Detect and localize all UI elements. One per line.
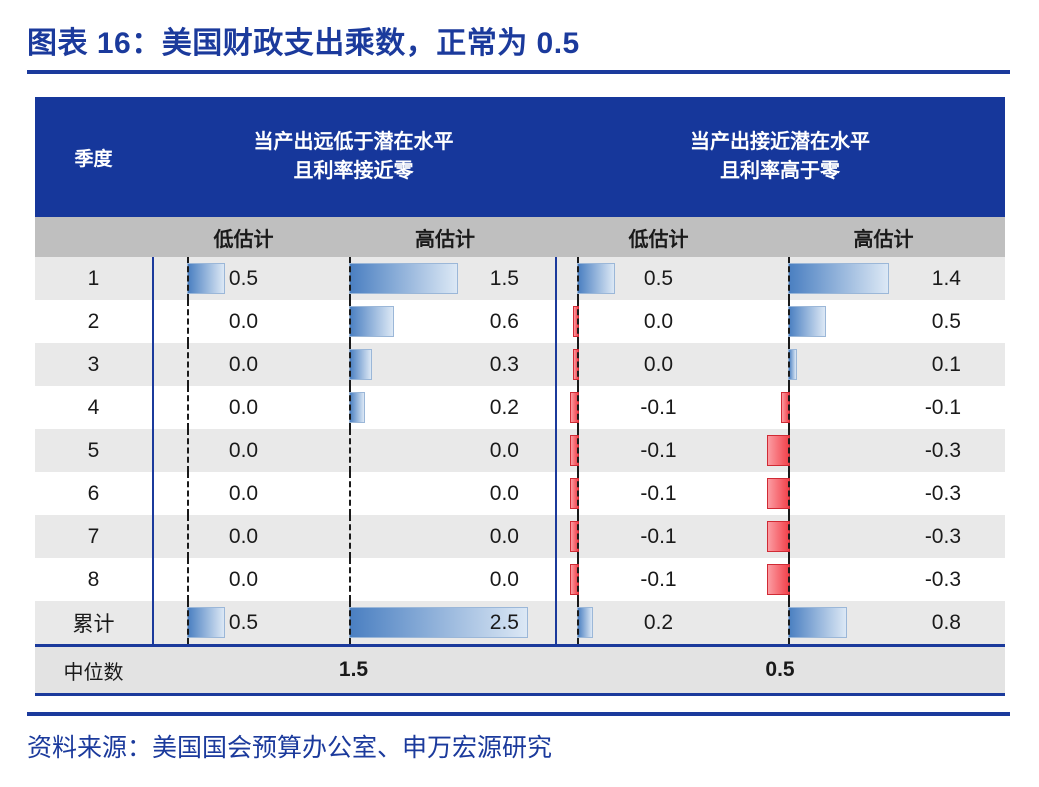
cell-value: -0.1 (555, 439, 762, 463)
cell-value: 0.0 (335, 525, 555, 549)
cell-value: 0.0 (335, 439, 555, 463)
table-row: 50.00.0-0.1-0.3 (35, 429, 1005, 472)
cell-value: -0.1 (762, 396, 1005, 420)
divider-sections (555, 257, 557, 644)
cell-value: 0.0 (152, 439, 335, 463)
figure-container: 图表 16：美国财政支出乘数，正常为 0.5 季度 当产出远低于潜在水平 且利率… (0, 0, 1039, 787)
row-quarter-label: 1 (35, 257, 152, 300)
cell-value: -0.1 (555, 568, 762, 592)
median-row: 中位数 1.5 0.5 (35, 644, 1005, 696)
cell-value: 0.0 (152, 310, 335, 334)
header-group-right-line1: 当产出接近潜在水平 (690, 128, 870, 157)
cell-value: -0.3 (762, 525, 1005, 549)
cell-low-left: 0.0 (152, 472, 335, 515)
table-header: 季度 当产出远低于潜在水平 且利率接近零 当产出接近潜在水平 且利率高于零 (35, 97, 1005, 217)
cell-value: 0.8 (762, 611, 1005, 635)
cell-value: 1.5 (335, 267, 555, 291)
cell-value: 0.6 (335, 310, 555, 334)
row-quarter-label: 3 (35, 343, 152, 386)
cell-value: 0.5 (152, 267, 335, 291)
cell-high-left: 0.0 (335, 429, 555, 472)
cell-value: 0.0 (152, 482, 335, 506)
cell-low-left: 0.0 (152, 429, 335, 472)
cell-low-left: 0.0 (152, 300, 335, 343)
row-quarter-label: 7 (35, 515, 152, 558)
header-group-left-line1: 当产出远低于潜在水平 (254, 128, 454, 157)
source-divider (27, 712, 1010, 716)
cell-high-right: 0.5 (762, 300, 1005, 343)
table-row: 80.00.0-0.1-0.3 (35, 558, 1005, 601)
cell-low-right: -0.1 (555, 386, 762, 429)
table-body: 10.51.50.51.420.00.60.00.530.00.30.00.14… (35, 257, 1005, 644)
table-row: 累计0.52.50.20.8 (35, 601, 1005, 644)
row-quarter-label: 2 (35, 300, 152, 343)
cell-low-left: 0.0 (152, 515, 335, 558)
cell-low-right: 0.0 (555, 343, 762, 386)
cell-high-left: 0.0 (335, 515, 555, 558)
cell-low-left: 0.5 (152, 601, 335, 644)
cell-low-left: 0.5 (152, 257, 335, 300)
cell-value: 0.0 (335, 568, 555, 592)
cell-high-left: 0.0 (335, 558, 555, 601)
cell-high-left: 0.3 (335, 343, 555, 386)
cell-high-left: 2.5 (335, 601, 555, 644)
cell-high-left: 1.5 (335, 257, 555, 300)
subheader-low-right: 低估计 (555, 217, 762, 257)
median-value-right: 0.5 (555, 647, 1005, 693)
cell-high-left: 0.6 (335, 300, 555, 343)
row-quarter-label: 6 (35, 472, 152, 515)
cell-value: 1.4 (762, 267, 1005, 291)
cell-value: 0.5 (555, 267, 762, 291)
cell-low-right: -0.1 (555, 558, 762, 601)
cell-value: 0.0 (152, 396, 335, 420)
subheader-spacer (35, 217, 152, 257)
header-group-right-line2: 且利率高于零 (690, 157, 870, 186)
table-subheader: 低估计 高估计 低估计 高估计 (35, 217, 1005, 257)
row-quarter-label: 4 (35, 386, 152, 429)
row-quarter-label: 8 (35, 558, 152, 601)
data-table: 季度 当产出远低于潜在水平 且利率接近零 当产出接近潜在水平 且利率高于零 低估… (35, 97, 1005, 696)
cell-low-right: -0.1 (555, 429, 762, 472)
cell-value: 0.3 (335, 353, 555, 377)
title-divider (27, 70, 1010, 74)
header-quarter: 季度 (35, 97, 152, 217)
subheader-high-left: 高估计 (335, 217, 555, 257)
cell-value: 0.5 (762, 310, 1005, 334)
cell-value: 0.0 (152, 525, 335, 549)
cell-low-left: 0.0 (152, 343, 335, 386)
cell-low-right: 0.2 (555, 601, 762, 644)
cell-low-right: 0.5 (555, 257, 762, 300)
median-value-left: 1.5 (152, 647, 555, 693)
cell-high-right: -0.1 (762, 386, 1005, 429)
table-row: 20.00.60.00.5 (35, 300, 1005, 343)
cell-high-right: 0.1 (762, 343, 1005, 386)
cell-value: 0.0 (152, 353, 335, 377)
cell-high-left: 0.0 (335, 472, 555, 515)
cell-value: -0.1 (555, 482, 762, 506)
divider-quarter (152, 257, 154, 644)
median-label: 中位数 (35, 647, 152, 693)
header-group-left-line2: 且利率接近零 (254, 157, 454, 186)
row-quarter-label: 累计 (35, 601, 152, 644)
source-note: 资料来源：美国国会预算办公室、申万宏源研究 (27, 728, 552, 764)
table-row: 30.00.30.00.1 (35, 343, 1005, 386)
cell-value: 0.0 (152, 568, 335, 592)
cell-low-right: 0.0 (555, 300, 762, 343)
cell-high-right: 0.8 (762, 601, 1005, 644)
page-title: 图表 16：美国财政支出乘数，正常为 0.5 (27, 18, 580, 62)
row-quarter-label: 5 (35, 429, 152, 472)
subheader-high-right: 高估计 (762, 217, 1005, 257)
cell-high-left: 0.2 (335, 386, 555, 429)
cell-value: 2.5 (335, 611, 555, 635)
table-row: 40.00.2-0.1-0.1 (35, 386, 1005, 429)
cell-value: 0.1 (762, 353, 1005, 377)
cell-value: -0.3 (762, 482, 1005, 506)
cell-low-right: -0.1 (555, 515, 762, 558)
cell-value: 0.0 (555, 353, 762, 377)
cell-high-right: -0.3 (762, 515, 1005, 558)
table-row: 10.51.50.51.4 (35, 257, 1005, 300)
cell-value: -0.1 (555, 396, 762, 420)
cell-low-left: 0.0 (152, 558, 335, 601)
cell-value: 0.0 (555, 310, 762, 334)
table-row: 60.00.0-0.1-0.3 (35, 472, 1005, 515)
cell-value: 0.2 (555, 611, 762, 635)
cell-low-left: 0.0 (152, 386, 335, 429)
cell-value: -0.3 (762, 439, 1005, 463)
cell-high-right: -0.3 (762, 472, 1005, 515)
header-group-left: 当产出远低于潜在水平 且利率接近零 (152, 97, 555, 217)
cell-value: -0.1 (555, 525, 762, 549)
cell-value: -0.3 (762, 568, 1005, 592)
cell-value: 0.5 (152, 611, 335, 635)
table-row: 70.00.0-0.1-0.3 (35, 515, 1005, 558)
cell-value: 0.0 (335, 482, 555, 506)
header-group-right: 当产出接近潜在水平 且利率高于零 (555, 97, 1005, 217)
cell-low-right: -0.1 (555, 472, 762, 515)
cell-high-right: -0.3 (762, 558, 1005, 601)
subheader-low-left: 低估计 (152, 217, 335, 257)
cell-high-right: 1.4 (762, 257, 1005, 300)
cell-high-right: -0.3 (762, 429, 1005, 472)
cell-value: 0.2 (335, 396, 555, 420)
